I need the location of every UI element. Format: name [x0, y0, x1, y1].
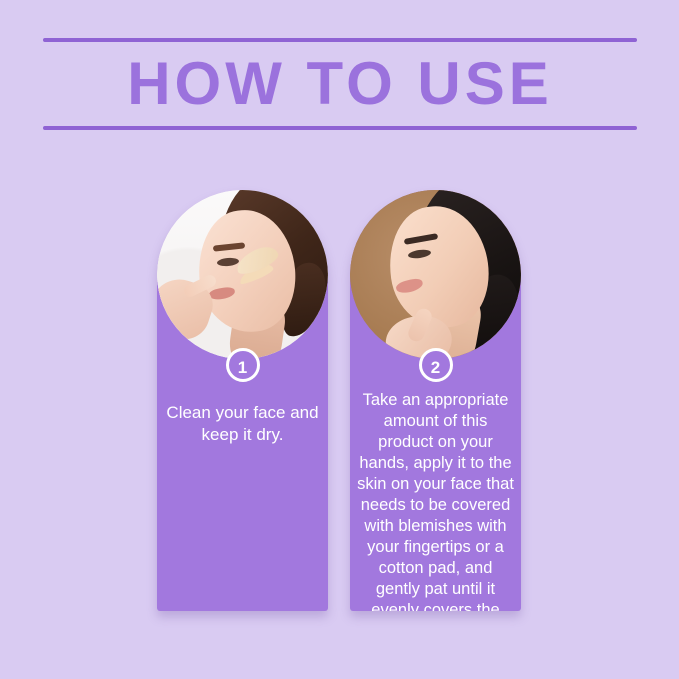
steps-row: 1 Clean your face and keep it dry. 2 Tak… [0, 190, 679, 620]
poster-header: HOW TO USE [43, 38, 637, 138]
how-to-use-poster: HOW TO USE 1 Clean your face and keep it… [0, 0, 679, 679]
page-title: HOW TO USE [43, 42, 637, 126]
step-card-1: 1 Clean your face and keep it dry. [157, 190, 328, 611]
step-number-badge-2: 2 [419, 348, 453, 382]
step-card-2: 2 Take an appropriate amount of this pro… [350, 190, 521, 611]
title-rule-bottom [43, 126, 637, 130]
step-2-photo [350, 190, 521, 359]
step-2-description: Take an appropriate amount of this produ… [356, 390, 515, 611]
step-1-description: Clean your face and keep it dry. [163, 402, 322, 446]
step-1-photo [157, 190, 328, 359]
step-number-badge-1: 1 [226, 348, 260, 382]
